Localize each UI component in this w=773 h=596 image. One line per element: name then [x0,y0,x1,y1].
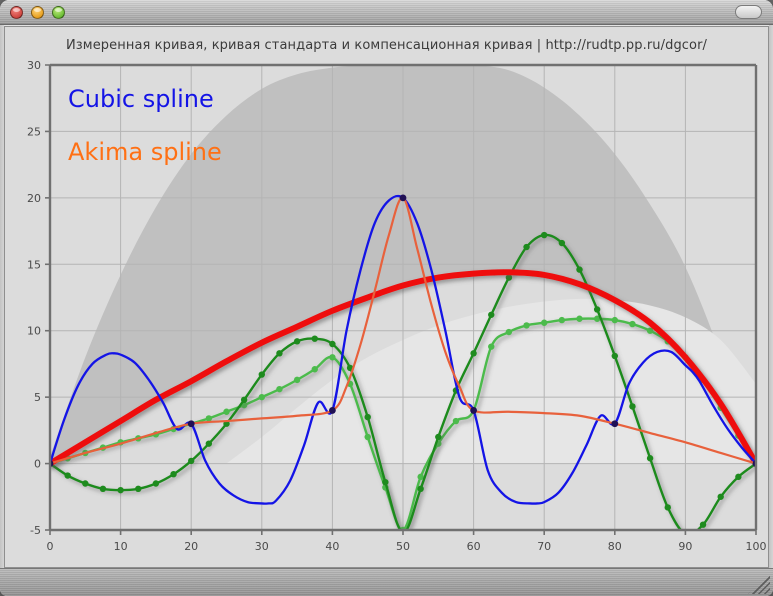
data-point-marker [365,434,371,440]
data-point-marker [470,350,476,356]
data-point-marker [576,266,582,272]
data-point-marker [488,312,494,318]
knot-point [470,407,477,414]
data-point-marker [206,415,212,421]
data-point-marker [700,521,706,527]
data-point-marker [312,366,318,372]
legend-label-cubic-spline: Cubic spline [68,85,214,113]
data-point-marker [241,397,247,403]
y-tick-label: 15 [27,258,41,271]
y-tick-label: 25 [27,125,41,138]
data-point-marker [417,486,423,492]
y-tick-label: 5 [34,391,41,404]
title-bar[interactable] [0,0,773,25]
data-point-marker [435,434,441,440]
x-tick-label: 50 [396,540,410,553]
data-point-marker [541,232,547,238]
data-point-marker [612,353,618,359]
data-point-marker [665,504,671,510]
knot-point [400,194,407,201]
data-point-marker [259,394,265,400]
knot-point [329,407,336,414]
data-point-marker [506,329,512,335]
data-point-marker [64,472,70,478]
x-tick-label: 80 [608,540,622,553]
data-point-marker [153,480,159,486]
data-point-marker [523,322,529,328]
data-point-marker [329,354,335,360]
x-tick-label: 20 [184,540,198,553]
maximize-button[interactable] [52,6,65,19]
data-point-marker [135,486,141,492]
data-point-marker [647,455,653,461]
data-point-marker [206,440,212,446]
app-window: Измеренная кривая, кривая стандарта и ко… [0,0,773,596]
data-point-marker [594,306,600,312]
x-tick-label: 40 [325,540,339,553]
x-tick-label: 30 [255,540,269,553]
resize-grip[interactable] [748,574,770,594]
minimize-button[interactable] [31,6,44,19]
x-tick-label: 10 [114,540,128,553]
data-point-marker [523,244,529,250]
data-point-marker [453,418,459,424]
data-point-marker [276,350,282,356]
x-tick-label: 70 [537,540,551,553]
data-point-marker [329,341,335,347]
legend-label-akima-spline: Akima spline [68,138,222,166]
data-point-marker [488,343,494,349]
data-point-marker [718,494,724,500]
knot-point [188,420,195,427]
plot-area: -50510152025300102030405060708090100Cubi… [5,57,770,567]
data-point-marker [312,335,318,341]
data-point-marker [117,487,123,493]
data-point-marker [188,458,194,464]
data-point-marker [559,317,565,323]
data-point-marker [541,320,547,326]
data-point-marker [365,414,371,420]
data-point-marker [294,377,300,383]
data-point-marker [276,386,282,392]
data-point-marker [259,371,265,377]
x-tick-label: 100 [746,540,767,553]
y-tick-label: 0 [34,458,41,471]
y-tick-label: -5 [30,524,41,537]
data-point-marker [223,409,229,415]
data-point-marker [82,480,88,486]
data-point-marker [382,479,388,485]
window-content: Измеренная кривая, кривая стандарта и ко… [4,26,769,568]
data-point-marker [170,471,176,477]
data-point-marker [629,321,635,327]
knot-point [611,420,618,427]
y-tick-label: 20 [27,192,41,205]
x-tick-label: 90 [678,540,692,553]
y-tick-label: 30 [27,59,41,72]
data-point-marker [735,474,741,480]
data-point-marker [506,274,512,280]
toolbar-toggle-button[interactable] [735,5,762,19]
data-point-marker [100,486,106,492]
close-button[interactable] [10,6,23,19]
data-point-marker [629,403,635,409]
window-bottom-bar [0,568,773,596]
data-point-marker [576,316,582,322]
data-point-marker [559,240,565,246]
y-tick-label: 10 [27,325,41,338]
data-point-marker [294,338,300,344]
chart-title: Измеренная кривая, кривая стандарта и ко… [5,38,768,53]
x-tick-label: 0 [47,540,54,553]
x-tick-label: 60 [467,540,481,553]
data-point-marker [612,317,618,323]
plot-svg: -50510152025300102030405060708090100Cubi… [5,57,770,567]
